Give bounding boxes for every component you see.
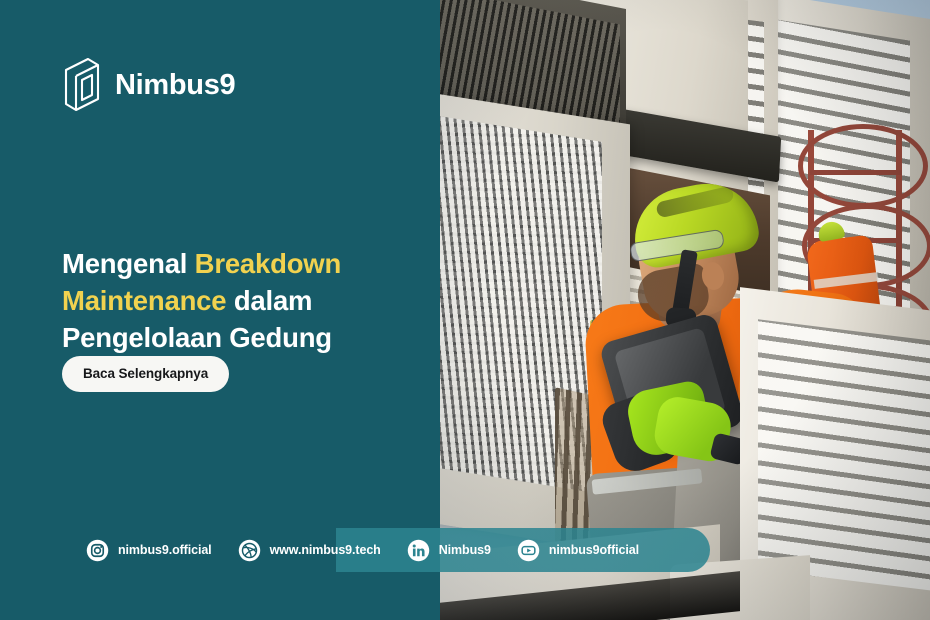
social-label-website: www.nimbus9.tech <box>270 543 381 557</box>
photo-vignette <box>440 0 930 620</box>
social-link-website[interactable]: www.nimbus9.tech <box>238 539 381 562</box>
brand-name: Nimbus9 <box>115 71 235 100</box>
globe-icon <box>238 539 261 562</box>
instagram-icon <box>86 539 109 562</box>
linkedin-icon <box>407 539 430 562</box>
social-link-instagram[interactable]: nimbus9.official <box>86 539 212 562</box>
hero-photo <box>440 0 930 620</box>
brand-logo[interactable]: Nimbus9 <box>62 56 235 114</box>
social-link-youtube[interactable]: nimbus9official <box>517 539 639 562</box>
social-label-youtube: nimbus9official <box>549 543 639 557</box>
social-label-linkedin: Nimbus9 <box>439 543 491 557</box>
social-label-instagram: nimbus9.official <box>118 543 212 557</box>
isometric-building-logo-icon <box>62 56 102 114</box>
headline-part-1: Mengenal <box>62 248 195 279</box>
youtube-icon <box>517 539 540 562</box>
page-title: Mengenal Breakdown Maintenance dalam Pen… <box>62 246 412 356</box>
promo-banner: Nimbus9 Mengenal Breakdown Maintenance d… <box>0 0 930 620</box>
social-link-linkedin[interactable]: Nimbus9 <box>407 539 491 562</box>
social-bar: nimbus9.official www.nimbus9.tech Nimbus… <box>0 528 710 572</box>
read-more-button[interactable]: Baca Selengkapnya <box>62 356 229 392</box>
